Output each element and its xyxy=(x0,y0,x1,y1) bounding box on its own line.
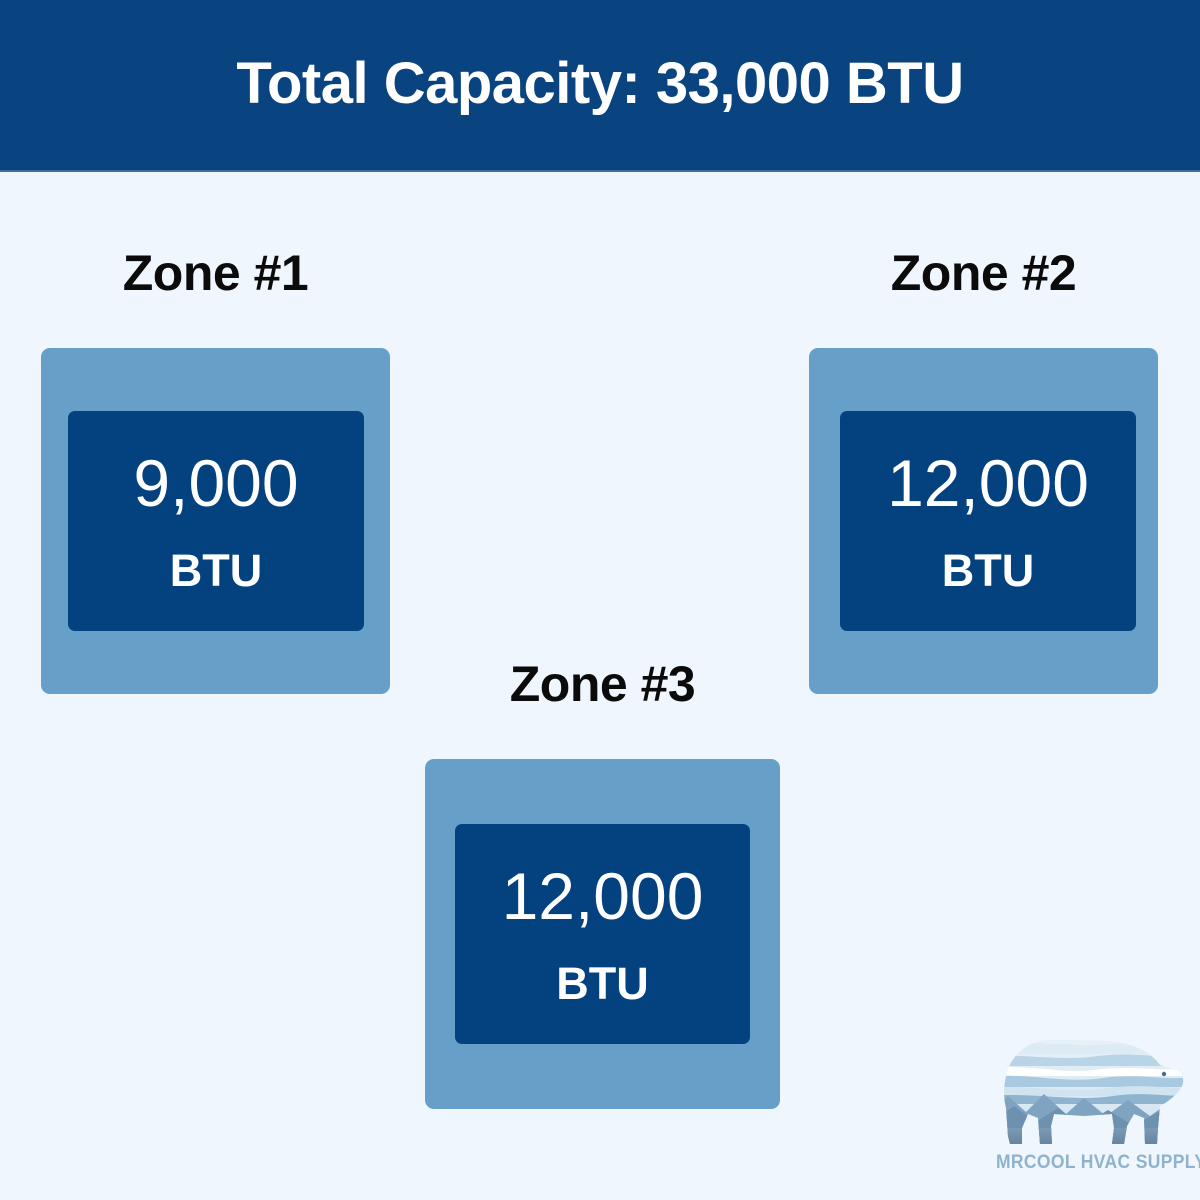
zone-2-unit: BTU xyxy=(942,548,1034,593)
brand-logo: MRCOOL HVAC SUPPLY xyxy=(988,1032,1188,1184)
polar-bear-icon xyxy=(988,1032,1188,1150)
zone-1-unit: BTU xyxy=(170,548,262,593)
zone-card-3: Zone #3 12,000 BTU xyxy=(425,659,780,1109)
zone-1-capacity-tile: 9,000 BTU xyxy=(68,411,364,631)
zone-3-capacity-tile: 12,000 BTU xyxy=(455,824,750,1044)
bear-eye-icon xyxy=(1162,1072,1166,1076)
zone-2-capacity-tile: 12,000 BTU xyxy=(840,411,1136,631)
header-banner: Total Capacity: 33,000 BTU xyxy=(0,0,1200,172)
zone-3-value: 12,000 xyxy=(502,863,704,929)
zone-2-label: Zone #2 xyxy=(809,248,1158,298)
zone-3-unit: BTU xyxy=(556,961,648,1006)
zone-2-outer-panel: 12,000 BTU xyxy=(809,348,1158,694)
brand-logo-text: MRCOOL HVAC SUPPLY xyxy=(996,1152,1180,1174)
zone-1-label: Zone #1 xyxy=(41,248,390,298)
zone-3-outer-panel: 12,000 BTU xyxy=(425,759,780,1109)
zone-card-2: Zone #2 12,000 BTU xyxy=(809,248,1158,694)
page-title: Total Capacity: 33,000 BTU xyxy=(236,55,963,113)
zone-1-outer-panel: 9,000 BTU xyxy=(41,348,390,694)
zone-2-value: 12,000 xyxy=(887,450,1089,516)
zone-3-label: Zone #3 xyxy=(425,659,780,709)
zone-card-1: Zone #1 9,000 BTU xyxy=(41,248,390,694)
zone-1-value: 9,000 xyxy=(133,450,298,516)
